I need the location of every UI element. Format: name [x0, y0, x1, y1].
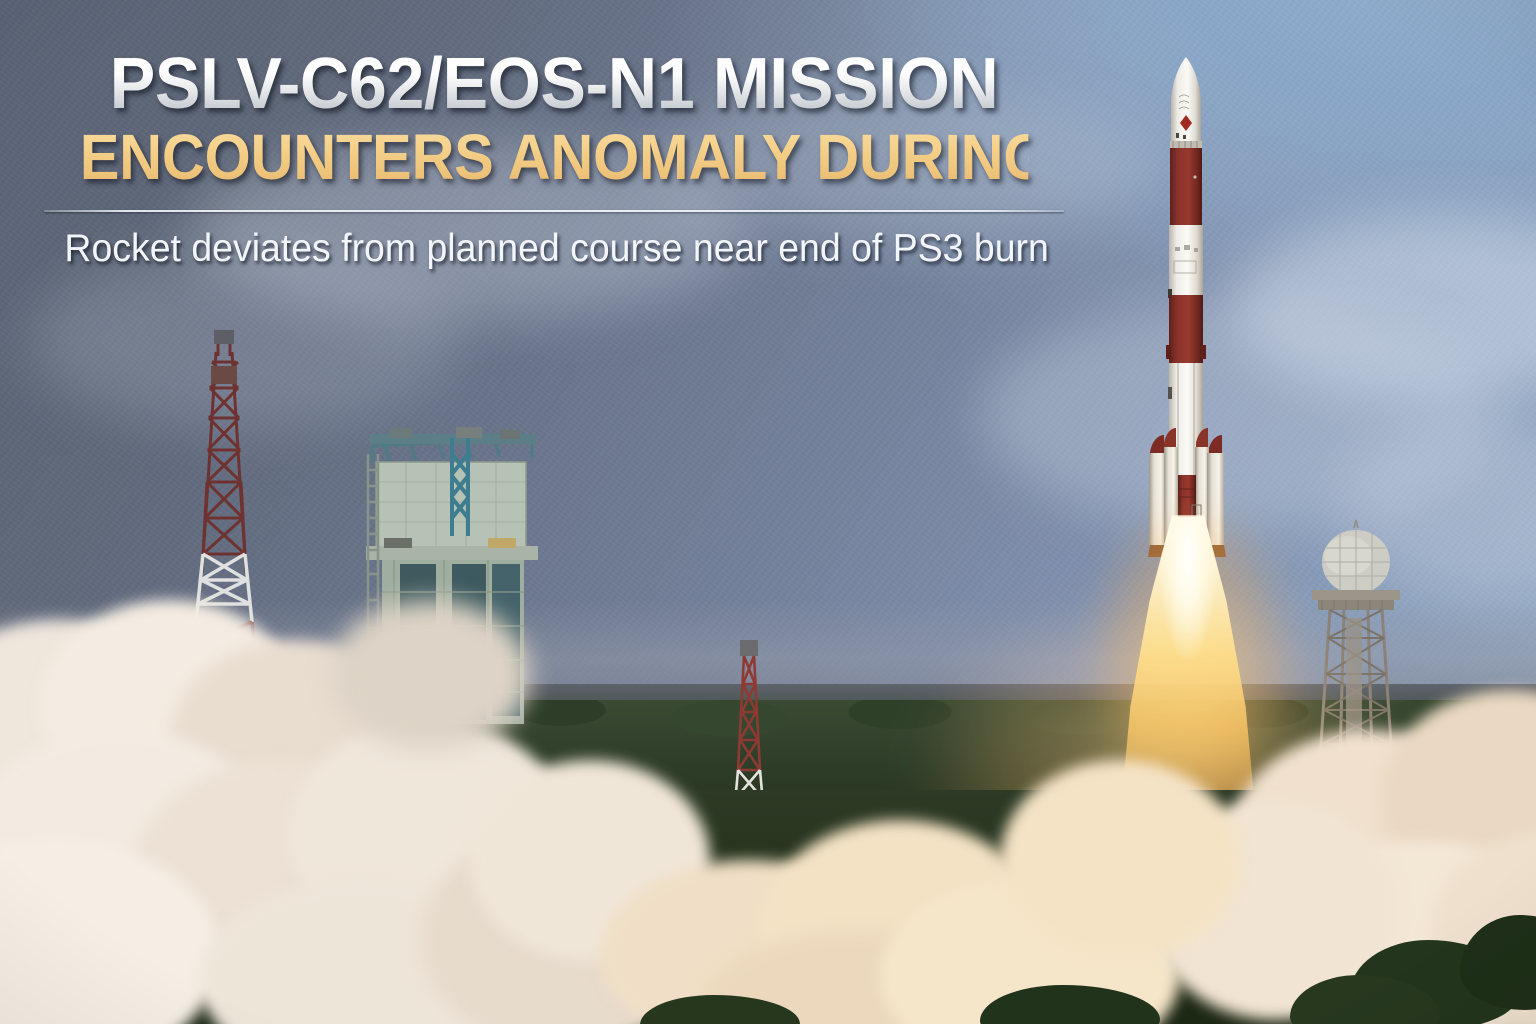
headline-divider	[44, 210, 1064, 212]
headline-secondary: ENCOUNTERS ANOMALY DURING THIRD STAGE	[80, 120, 1029, 194]
subheadline: Rocket deviates from planned course near…	[64, 226, 1043, 272]
launch-photo-graphic: PSLV-C62/EOS-N1 MISSION ENCOUNTERS ANOMA…	[0, 0, 1536, 1024]
headline-primary: PSLV-C62/EOS-N1 MISSION	[70, 44, 1039, 124]
headline-block: PSLV-C62/EOS-N1 MISSION ENCOUNTERS ANOMA…	[44, 44, 1064, 272]
